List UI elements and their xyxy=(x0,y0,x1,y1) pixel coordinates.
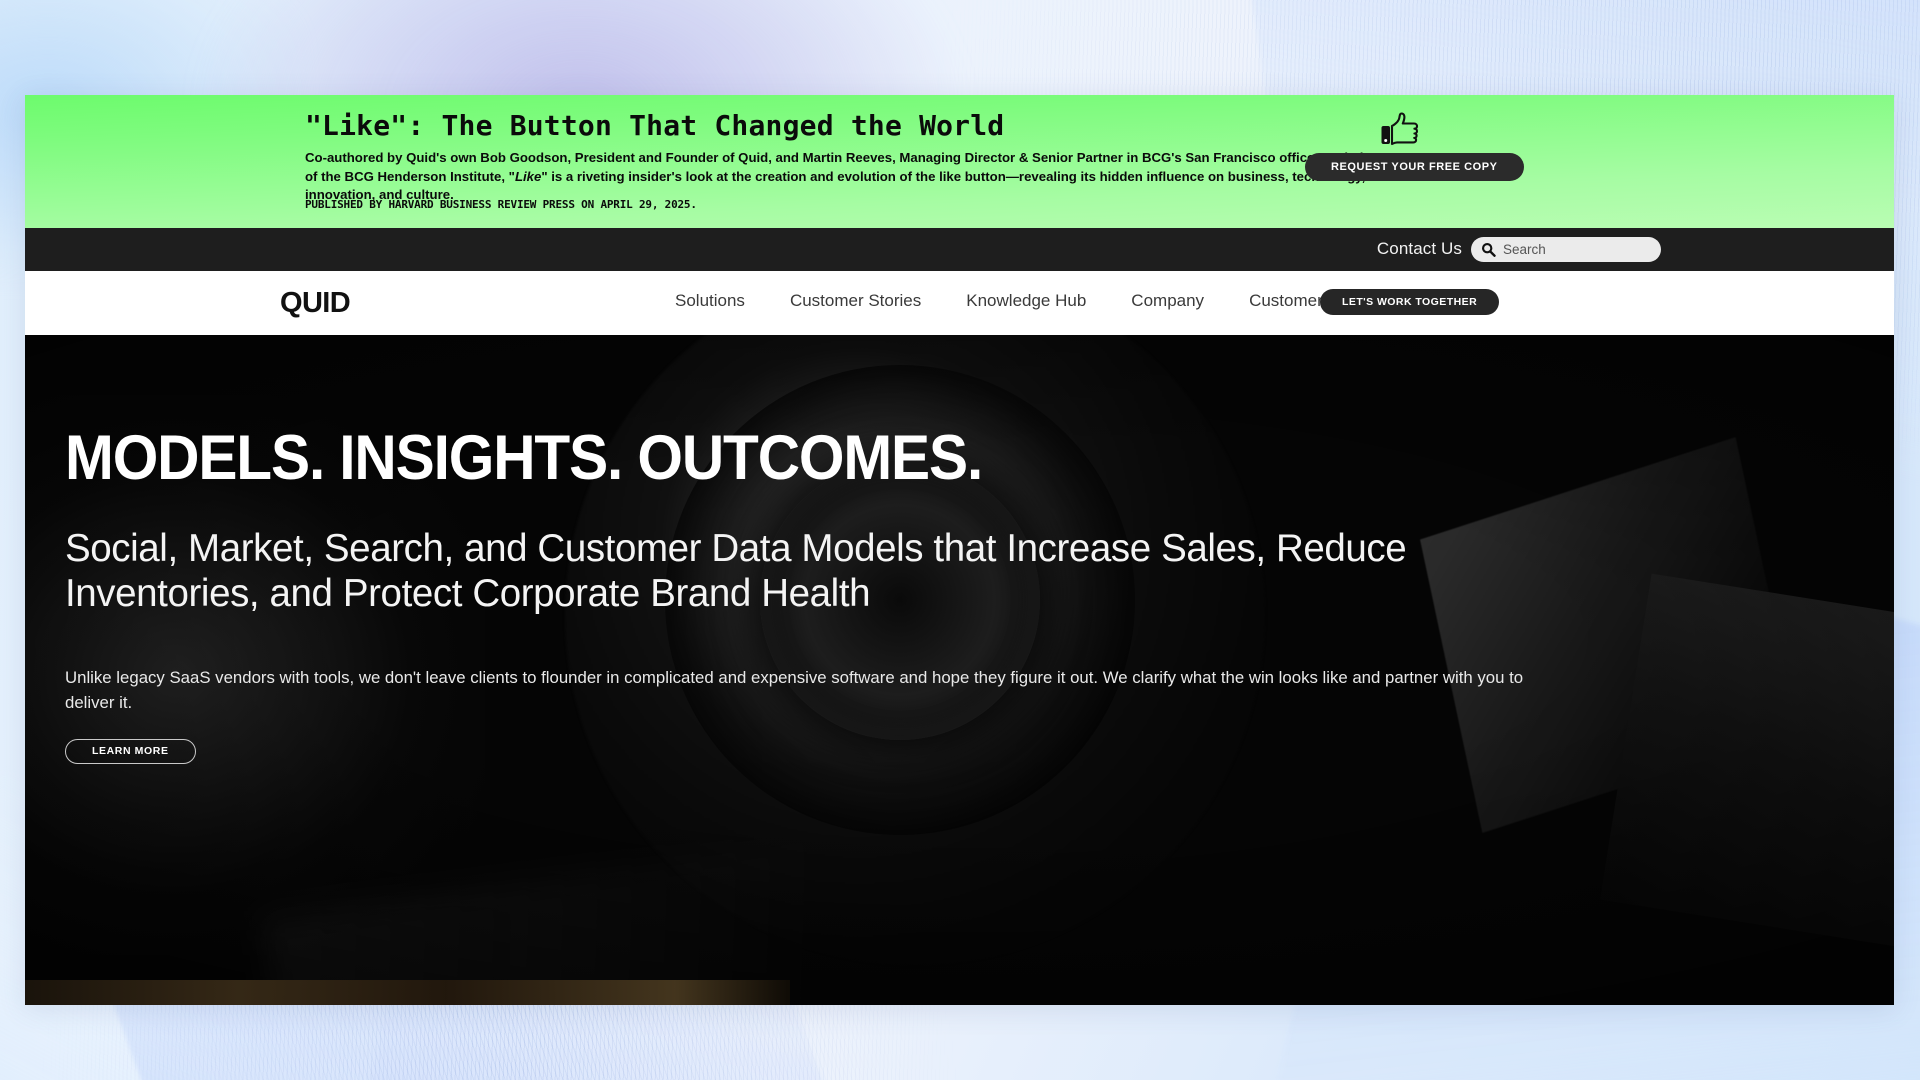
nav-item-solutions[interactable]: Solutions xyxy=(675,291,745,311)
hero-subtitle: Social, Market, Search, and Customer Dat… xyxy=(65,526,1515,616)
promo-description: Co-authored by Quid's own Bob Goodson, P… xyxy=(305,149,1370,205)
promo-title: "Like": The Button That Changed the Worl… xyxy=(305,109,1004,142)
request-free-copy-button[interactable]: REQUEST YOUR FREE COPY xyxy=(1305,153,1524,181)
main-navigation: QUID Solutions Customer Stories Knowledg… xyxy=(25,271,1894,335)
nav-links: Solutions Customer Stories Knowledge Hub… xyxy=(675,291,1375,311)
search-icon xyxy=(1481,242,1496,257)
nav-item-knowledge-hub[interactable]: Knowledge Hub xyxy=(966,291,1086,311)
promo-banner: "Like": The Button That Changed the Worl… xyxy=(25,95,1894,228)
hero-section: MODELS. INSIGHTS. OUTCOMES. Social, Mark… xyxy=(25,335,1894,1005)
website-page-card: "Like": The Button That Changed the Worl… xyxy=(25,95,1894,1005)
contact-us-link[interactable]: Contact Us xyxy=(1377,239,1462,259)
lets-work-together-button[interactable]: LET'S WORK TOGETHER xyxy=(1320,289,1499,315)
promo-description-italic: Like xyxy=(515,169,541,184)
search-input[interactable] xyxy=(1503,242,1651,257)
nav-item-customer-stories[interactable]: Customer Stories xyxy=(790,291,921,311)
thumbs-up-icon xyxy=(1380,112,1420,146)
learn-more-button[interactable]: LEARN MORE xyxy=(65,739,196,764)
quid-logo[interactable]: QUID xyxy=(280,287,350,320)
search-box[interactable] xyxy=(1471,237,1661,262)
hero-body-text: Unlike legacy SaaS vendors with tools, w… xyxy=(65,666,1525,715)
promo-published-line: PUBLISHED BY HARVARD BUSINESS REVIEW PRE… xyxy=(305,198,697,211)
hero-title: MODELS. INSIGHTS. OUTCOMES. xyxy=(65,427,1479,490)
nav-item-company[interactable]: Company xyxy=(1131,291,1204,311)
utility-bar: Contact Us xyxy=(25,228,1894,271)
hero-bottom-strip xyxy=(25,980,790,1005)
hero-content: MODELS. INSIGHTS. OUTCOMES. Social, Mark… xyxy=(65,335,1585,764)
